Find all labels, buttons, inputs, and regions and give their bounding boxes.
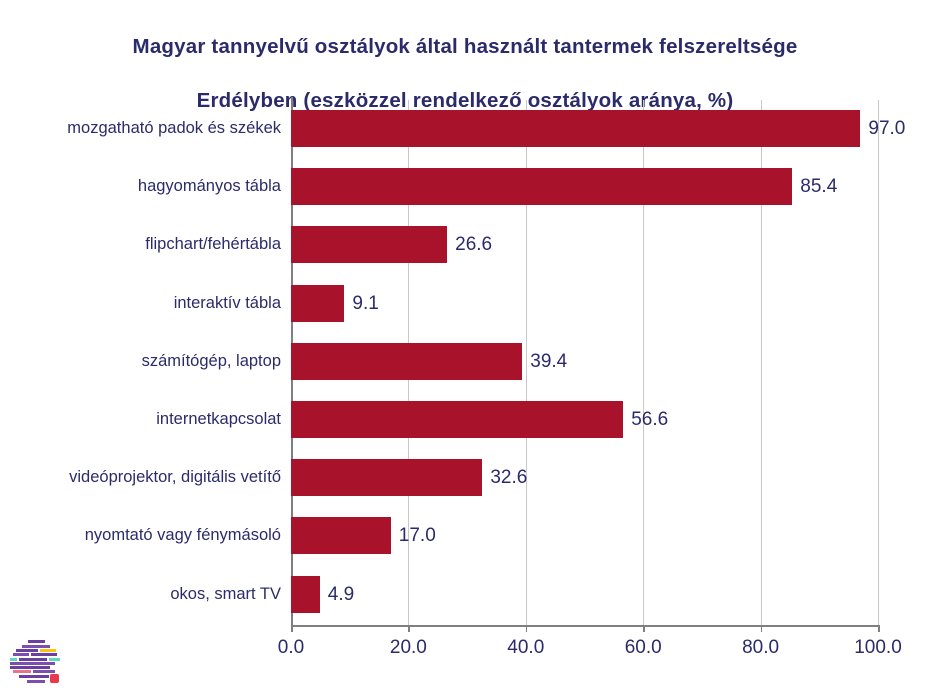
x-axis-tick — [408, 625, 410, 632]
logo-dot — [50, 674, 59, 683]
gridline — [878, 100, 879, 625]
bar-value-label: 9.1 — [352, 285, 378, 322]
x-axis-tick — [761, 625, 763, 632]
chart-title-line-1: Magyar tannyelvű osztályok által használ… — [133, 35, 798, 58]
chart-page: Magyar tannyelvű osztályok által használ… — [0, 0, 930, 699]
category-label: számítógép, laptop — [0, 343, 281, 380]
bar — [291, 110, 860, 147]
x-axis-tick — [643, 625, 645, 632]
bar — [291, 343, 522, 380]
x-axis-tick — [526, 625, 528, 632]
x-axis-tick-label: 80.0 — [721, 637, 801, 659]
x-axis-tick — [291, 625, 293, 632]
category-label: okos, smart TV — [0, 576, 281, 613]
bar-value-label: 4.9 — [328, 576, 354, 613]
x-axis-tick — [878, 625, 880, 632]
category-label: videóprojektor, digitális vetítő — [0, 459, 281, 496]
x-axis-tick-label: 0.0 — [251, 637, 331, 659]
category-label: nyomtató vagy fénymásoló — [0, 517, 281, 554]
plot-area — [291, 100, 878, 625]
bar — [291, 401, 623, 438]
x-axis-line — [291, 625, 879, 627]
bar-value-label: 32.6 — [490, 459, 527, 496]
bar — [291, 576, 320, 613]
bar-value-label: 17.0 — [399, 517, 436, 554]
bar-value-label: 39.4 — [530, 343, 567, 380]
category-label: interaktív tábla — [0, 285, 281, 322]
category-label: hagyományos tábla — [0, 168, 281, 205]
bar — [291, 517, 391, 554]
category-label: internetkapcsolat — [0, 401, 281, 438]
category-label: mozgatható padok és székek — [0, 110, 281, 147]
institute-logo — [9, 638, 63, 688]
x-axis-tick-label: 20.0 — [368, 637, 448, 659]
bar-value-label: 26.6 — [455, 226, 492, 263]
chart-title: Magyar tannyelvű osztályok által használ… — [0, 6, 930, 114]
bar — [291, 168, 792, 205]
bar-value-label: 85.4 — [800, 168, 837, 205]
x-axis-tick-label: 60.0 — [603, 637, 683, 659]
bar-value-label: 56.6 — [631, 401, 668, 438]
x-axis-tick-label: 40.0 — [486, 637, 566, 659]
category-label: flipchart/fehértábla — [0, 226, 281, 263]
bar — [291, 226, 447, 263]
x-axis-tick-label: 100.0 — [838, 637, 918, 659]
bar — [291, 459, 482, 496]
bar — [291, 285, 344, 322]
bar-value-label: 97.0 — [868, 110, 905, 147]
